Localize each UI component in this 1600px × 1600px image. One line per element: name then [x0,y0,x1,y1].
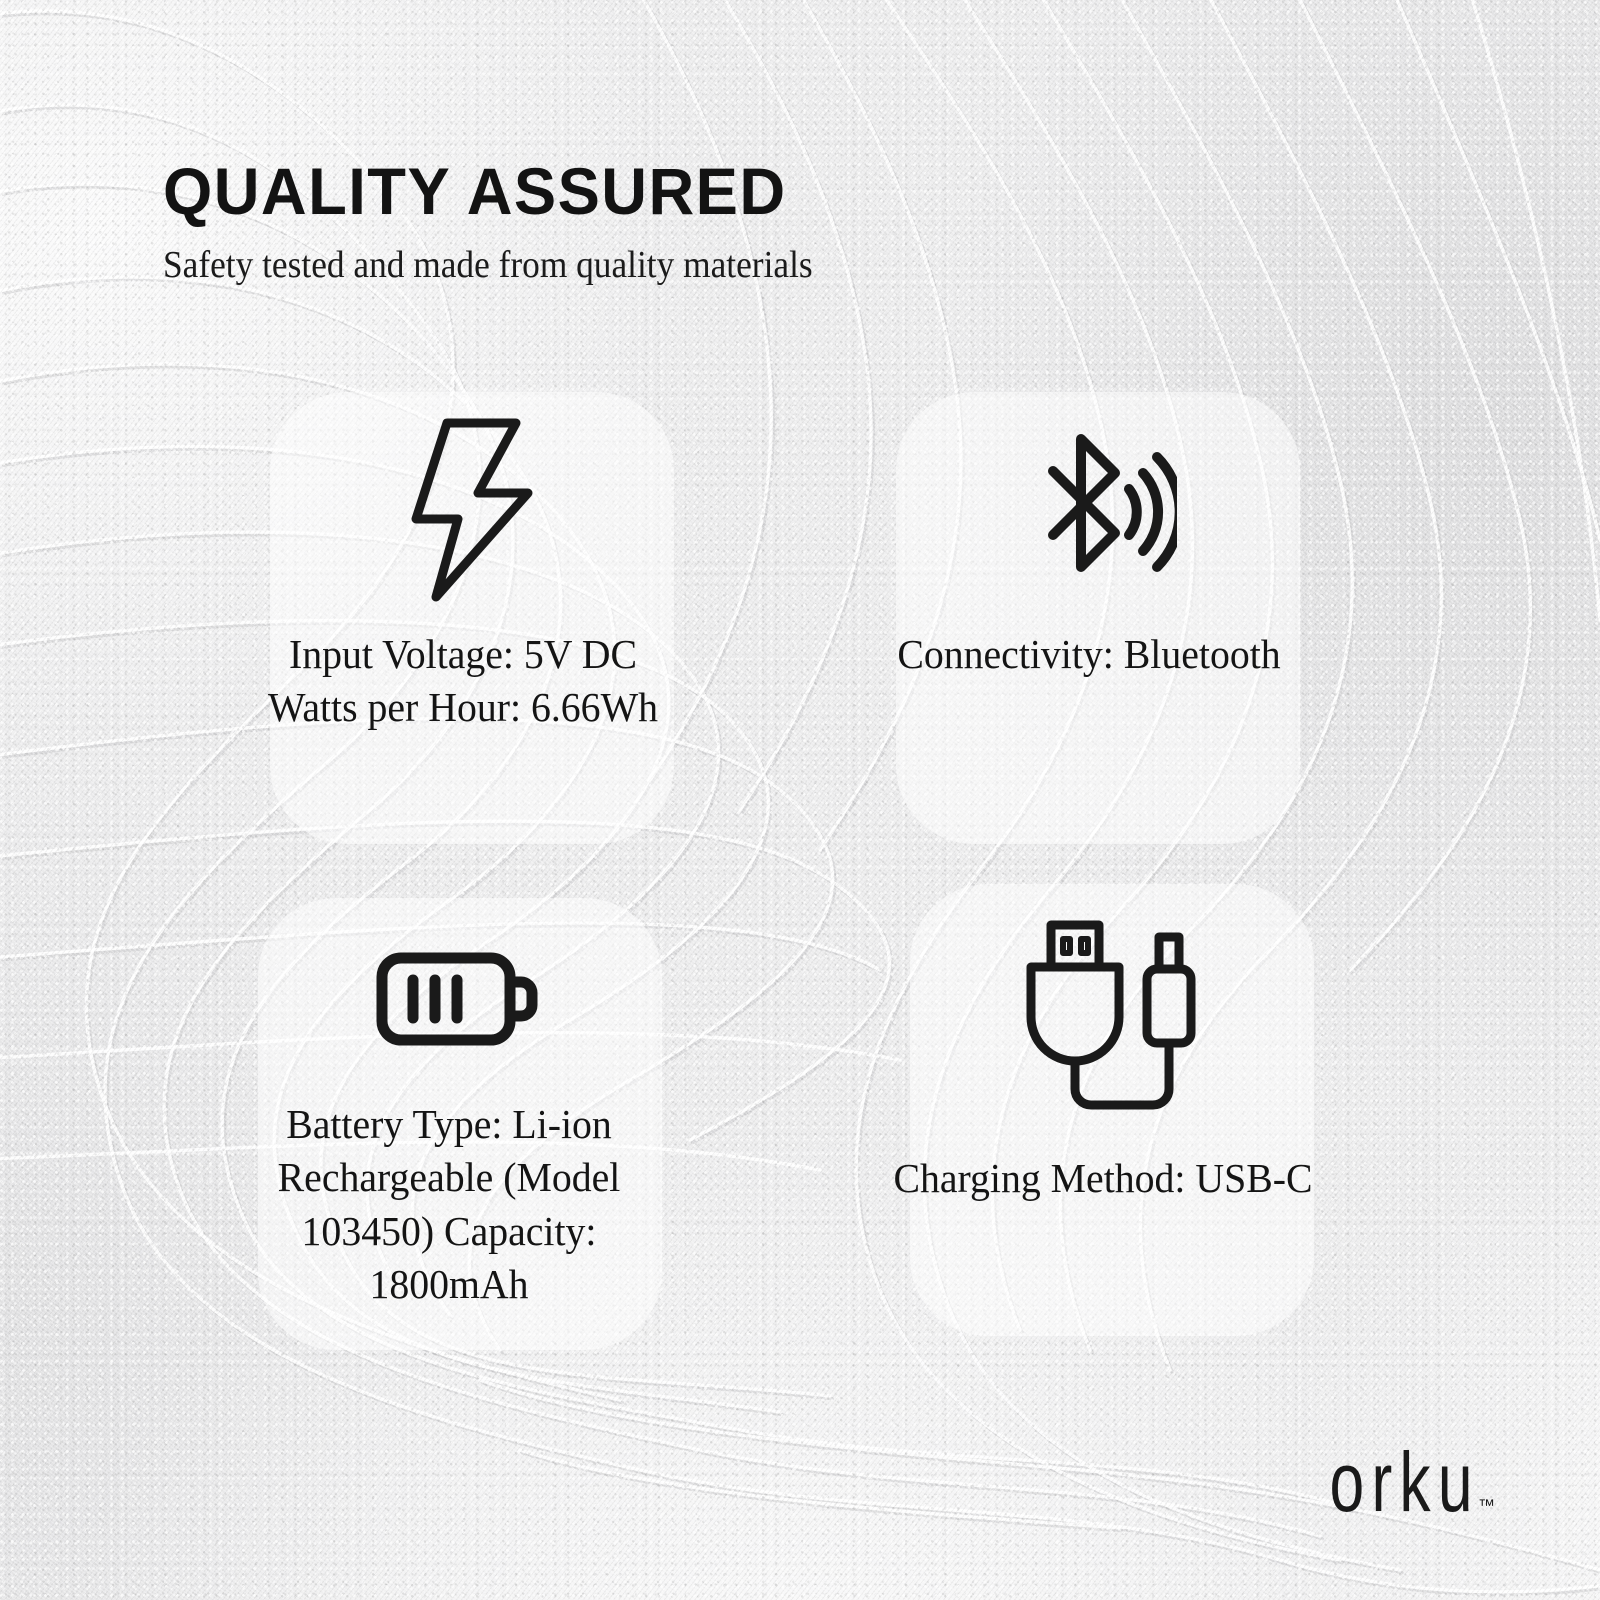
spec-card-connectivity: Connectivity: Bluetooth [896,392,1300,844]
spec-card-text: Charging Method: USB-C [890,1152,1317,1205]
spec-card-input-voltage: Input Voltage: 5V DC Watts per Hour: 6.6… [270,392,674,844]
spec-card-charging-method: Charging Method: USB-C [910,884,1314,1336]
brand-logo: orku ™ [1292,1448,1495,1522]
battery-icon [258,898,662,1098]
infographic-page: QUALITY ASSURED Safety tested and made f… [0,0,1600,1600]
spec-card-grid: Input Voltage: 5V DC Watts per Hour: 6.6… [0,0,1600,1600]
spec-card-text: Battery Type: Li-ion Rechargeable (Model… [230,1098,667,1311]
brand-logo-wordmark: orku [1330,1442,1480,1522]
usb-cable-icon [910,884,1314,1152]
lightning-bolt-icon [270,392,674,628]
spec-card-text: Connectivity: Bluetooth [876,628,1303,681]
bluetooth-icon [896,392,1300,628]
spec-card-battery: Battery Type: Li-ion Rechargeable (Model… [258,898,662,1350]
trademark-symbol: ™ [1478,1496,1495,1516]
spec-card-text: Input Voltage: 5V DC Watts per Hour: 6.6… [250,628,677,735]
